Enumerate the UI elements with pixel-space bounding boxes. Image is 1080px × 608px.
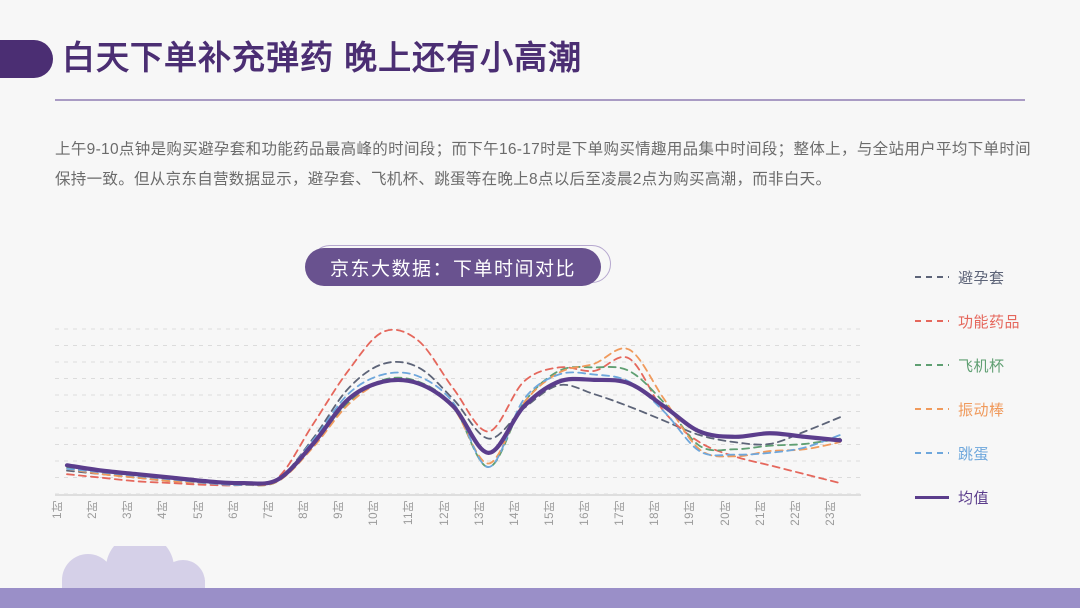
x-axis-tick-label: 2时 — [85, 500, 119, 519]
chart-x-axis-labels: 1时2时3时4时5时6时7时8时9时10时11时12时13时14时15时16时1… — [55, 500, 861, 536]
x-axis-tick-label: 8时 — [296, 500, 330, 519]
x-axis-tick-label: 19时 — [682, 500, 716, 526]
x-axis-tick-label: 14时 — [507, 500, 541, 526]
intro-paragraph: 上午9-10点钟是购买避孕套和功能药品最高峰的时间段；而下午16-17时是下单购… — [55, 135, 1031, 195]
legend-item-功能药品[interactable]: 功能药品 — [915, 299, 1065, 343]
x-axis-tick-label: 6时 — [226, 500, 260, 519]
chart-svg — [55, 300, 860, 498]
legend-swatch-icon — [915, 408, 949, 410]
chart-series-lines — [67, 330, 840, 486]
x-axis-tick-label: 18时 — [647, 500, 681, 526]
chart-title-badge-label: 京东大数据：下单时间对比 — [330, 254, 576, 281]
legend-label: 飞机杯 — [958, 355, 1005, 376]
x-axis-tick-label: 3时 — [120, 500, 154, 519]
x-axis-tick-label: 13时 — [472, 500, 506, 526]
legend-swatch-icon — [915, 452, 949, 454]
x-axis-tick-label: 22时 — [788, 500, 822, 526]
x-axis-tick-label: 21时 — [753, 500, 787, 526]
footer-accent-bar — [0, 588, 1080, 608]
page-title: 白天下单补充弹药 晚上还有小高潮 — [62, 36, 582, 80]
legend-item-跳蛋[interactable]: 跳蛋 — [915, 431, 1065, 475]
chart-legend: 避孕套功能药品飞机杯振动棒跳蛋均值 — [915, 255, 1065, 519]
chart-title-badge-fill: 京东大数据：下单时间对比 — [305, 248, 601, 286]
x-axis-tick-label: 12时 — [437, 500, 471, 526]
legend-label: 均值 — [958, 487, 989, 508]
x-axis-tick-label: 15时 — [542, 500, 576, 526]
x-axis-tick-label: 16时 — [577, 500, 611, 526]
legend-label: 功能药品 — [958, 311, 1020, 332]
legend-item-振动棒[interactable]: 振动棒 — [915, 387, 1065, 431]
legend-item-避孕套[interactable]: 避孕套 — [915, 255, 1065, 299]
x-axis-tick-label: 23时 — [823, 500, 857, 526]
x-axis-tick-label: 5时 — [191, 500, 225, 519]
chart-line-避孕套 — [67, 362, 840, 485]
footer-cloud-decoration — [50, 546, 250, 594]
chart-title-badge: 京东大数据：下单时间对比 — [305, 248, 605, 286]
legend-swatch-icon — [915, 364, 949, 366]
x-axis-tick-label: 9时 — [331, 500, 365, 519]
x-axis-tick-label: 7时 — [261, 500, 295, 519]
legend-label: 避孕套 — [958, 267, 1005, 288]
x-axis-tick-label: 1时 — [50, 500, 84, 519]
legend-swatch-icon — [915, 276, 949, 278]
chart-x-axis-line — [55, 494, 861, 496]
x-axis-tick-label: 10时 — [366, 500, 400, 526]
x-axis-tick-label: 4时 — [155, 500, 189, 519]
header-accent-shape — [0, 40, 53, 78]
legend-label: 振动棒 — [958, 399, 1005, 420]
legend-label: 跳蛋 — [958, 443, 989, 464]
chart-plot-area — [55, 300, 860, 498]
legend-swatch-icon — [915, 496, 949, 499]
chart-line-飞机杯 — [67, 367, 840, 486]
x-axis-tick-label: 17时 — [612, 500, 646, 526]
chart-line-振动棒 — [67, 348, 840, 485]
header-divider — [55, 99, 1025, 101]
x-axis-tick-label: 20时 — [718, 500, 752, 526]
legend-item-飞机杯[interactable]: 飞机杯 — [915, 343, 1065, 387]
legend-item-均值[interactable]: 均值 — [915, 475, 1065, 519]
legend-swatch-icon — [915, 320, 949, 322]
x-axis-tick-label: 11时 — [401, 500, 435, 525]
